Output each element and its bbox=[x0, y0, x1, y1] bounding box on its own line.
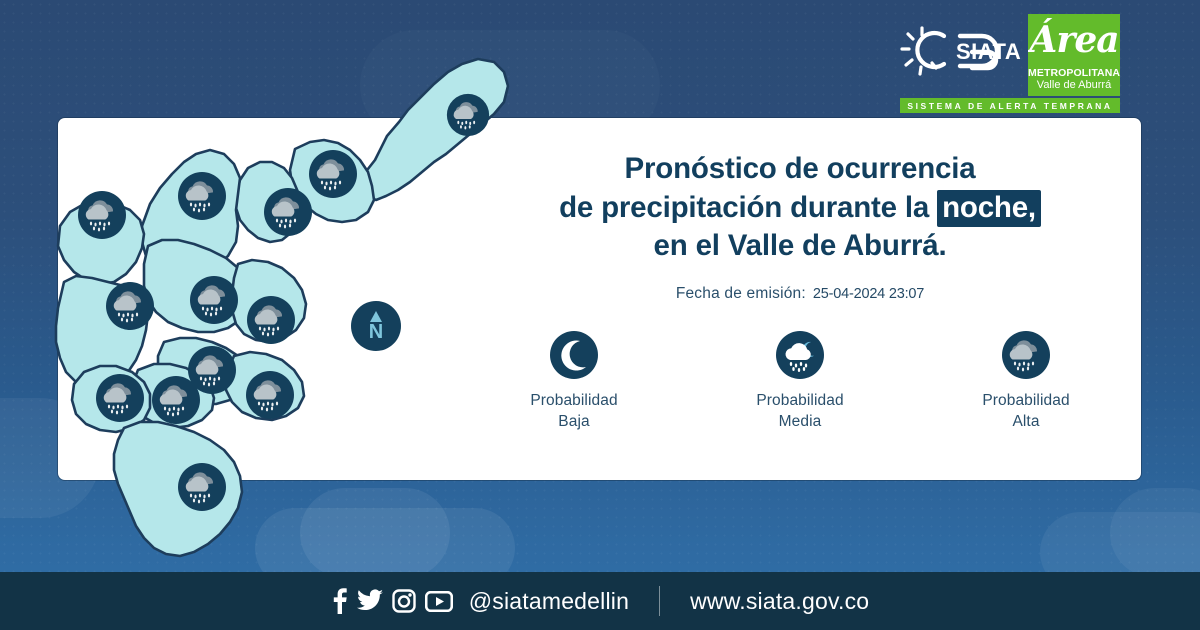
compass-label: N bbox=[369, 321, 383, 343]
issue-date-label: Fecha de emisión: bbox=[676, 285, 806, 303]
legend-media-line1: Probabilidad bbox=[725, 391, 875, 412]
facebook-icon[interactable] bbox=[331, 588, 348, 614]
legend-alta-line2: Alta bbox=[951, 412, 1101, 433]
map-marker-bello bbox=[189, 275, 239, 325]
area-metropolitana-logo: Área METROPOLITANA Valle de Aburrá bbox=[1028, 14, 1120, 96]
forecast-text-block: Pronóstico de ocurrencia de precipitació… bbox=[470, 150, 1130, 303]
cloud-heavy-rain-icon bbox=[951, 330, 1101, 380]
title-line-3: en el Valle de Aburrá. bbox=[470, 227, 1130, 266]
moon-clear-icon bbox=[499, 330, 649, 380]
tagline-text: SISTEMA DE ALERTA TEMPRANA bbox=[907, 101, 1112, 111]
area-line-valle: Valle de Aburrá bbox=[1028, 79, 1120, 91]
map-marker-medellin bbox=[105, 281, 155, 331]
legend-alta-line1: Probabilidad bbox=[951, 391, 1101, 412]
page-title: Pronóstico de ocurrencia de precipitació… bbox=[470, 150, 1130, 266]
legend-caption-media: Probabilidad Media bbox=[725, 391, 875, 432]
title-highlight-noche: noche, bbox=[937, 190, 1041, 227]
title-line-2-text: de precipitación durante la bbox=[559, 191, 929, 224]
website-url[interactable]: www.siata.gov.co bbox=[690, 588, 869, 615]
footer-divider bbox=[659, 586, 660, 616]
logo-block: SIATA Área METROPOLITANA Valle de Aburrá… bbox=[895, 14, 1130, 110]
siata-logo: SIATA bbox=[900, 22, 1022, 99]
tagline-bar: SISTEMA DE ALERTA TEMPRANA bbox=[900, 98, 1120, 113]
sun-disc-icon bbox=[917, 33, 944, 67]
map-marker-copacabana bbox=[263, 187, 313, 237]
title-line-1: Pronóstico de ocurrencia bbox=[470, 150, 1130, 189]
probability-legend: Probabilidad Baja Probabilidad Media bbox=[470, 330, 1130, 432]
legend-baja-line1: Probabilidad bbox=[499, 391, 649, 412]
footer-bar: @siatamedellin www.siata.gov.co bbox=[0, 572, 1200, 630]
map-marker-bello-norte bbox=[77, 190, 127, 240]
social-icons bbox=[331, 588, 453, 614]
legend-item-media: Probabilidad Media bbox=[725, 330, 875, 432]
map-marker-san-pedro bbox=[177, 171, 227, 221]
map-marker-sabaneta bbox=[245, 370, 295, 420]
legend-baja-line2: Baja bbox=[499, 412, 649, 433]
map-marker-la-estrella bbox=[151, 375, 201, 425]
map-marker-barbosa bbox=[446, 93, 490, 137]
compass-rose-icon: N bbox=[350, 300, 402, 352]
title-line-2: de precipitación durante la noche, bbox=[470, 189, 1130, 228]
area-script-word: Área bbox=[1028, 16, 1120, 65]
valle-de-aburra-map: N bbox=[42, 50, 512, 580]
legend-item-baja: Probabilidad Baja bbox=[499, 330, 649, 432]
legend-caption-alta: Probabilidad Alta bbox=[951, 391, 1101, 432]
area-line-metropolitana: METROPOLITANA bbox=[1028, 67, 1120, 79]
issue-date: Fecha de emisión: 25-04-2024 23:07 bbox=[470, 285, 1130, 303]
map-marker-girardota bbox=[308, 149, 358, 199]
instagram-icon[interactable] bbox=[392, 589, 416, 613]
legend-caption-baja: Probabilidad Baja bbox=[499, 391, 649, 432]
social-handle[interactable]: @siatamedellin bbox=[469, 588, 629, 615]
twitter-icon[interactable] bbox=[357, 589, 383, 613]
siata-wordmark: SIATA bbox=[956, 39, 1021, 64]
youtube-icon[interactable] bbox=[425, 591, 453, 612]
map-marker-caldas-norte bbox=[95, 373, 145, 423]
map-marker-caldas bbox=[177, 462, 227, 512]
cloud-rain-moon-icon bbox=[725, 330, 875, 380]
legend-item-alta: Probabilidad Alta bbox=[951, 330, 1101, 432]
map-marker-envigado bbox=[246, 295, 296, 345]
background-cloud-right-puff bbox=[1110, 488, 1200, 578]
issue-date-value: 25-04-2024 23:07 bbox=[813, 286, 924, 302]
legend-media-line2: Media bbox=[725, 412, 875, 433]
